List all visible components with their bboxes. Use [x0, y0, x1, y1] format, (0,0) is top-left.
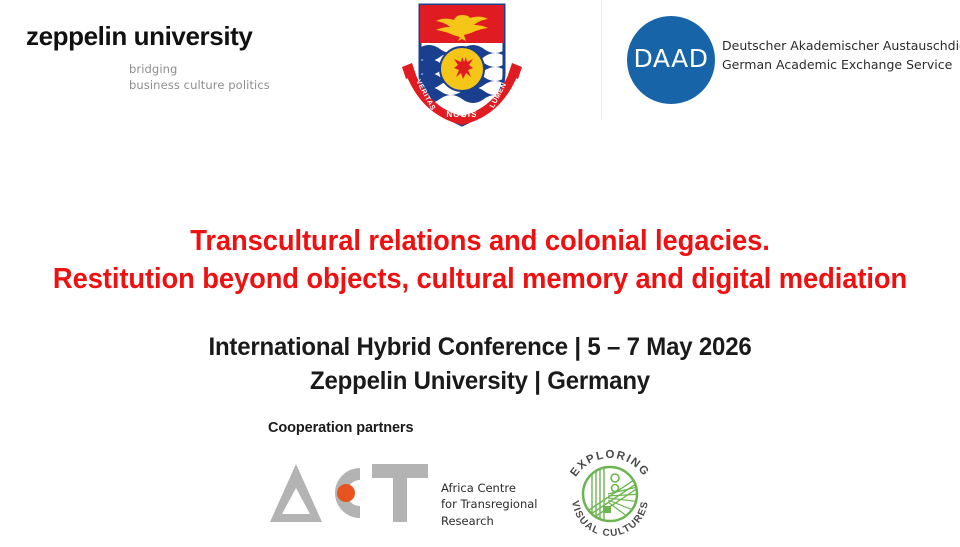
act-name-line-1: Africa Centre	[441, 480, 537, 496]
daad-name-english: German Academic Exchange Service	[722, 55, 960, 74]
zeppelin-university-logo: zeppelin university bridging business cu…	[26, 22, 326, 94]
crest-motto-center: NOBIS	[446, 110, 477, 119]
university-crest-logo: NOBIS VERITAS LUMEN	[398, 1, 526, 129]
crest-svg: NOBIS VERITAS LUMEN	[398, 1, 526, 129]
act-logo: Africa Centre for Transregional Research	[268, 454, 548, 534]
act-name-text: Africa Centre for Transregional Research	[441, 480, 537, 529]
zeppelin-university-tagline: bridging business culture politics	[129, 61, 326, 94]
daad-name-german: Deutscher Akademischer Austauschdienst	[722, 36, 960, 55]
cooperation-partners-label: Cooperation partners	[268, 420, 413, 436]
cooperation-partners-logos: Africa Centre for Transregional Research	[268, 452, 688, 540]
act-orange-dot-icon	[337, 484, 355, 502]
act-letter-t	[372, 464, 428, 522]
act-name-line-2: for Transregional	[441, 496, 537, 512]
conference-title-line-1: Transcultural relations and colonial leg…	[19, 222, 941, 260]
conference-details: International Hybrid Conference | 5 – 7 …	[0, 330, 960, 398]
daad-circle: DAAD	[627, 16, 715, 104]
conference-details-line-1: International Hybrid Conference | 5 – 7 …	[19, 330, 941, 364]
act-mark-icon	[268, 454, 438, 534]
act-name-line-3: Research	[441, 513, 537, 529]
tagline-line-2: business culture politics	[129, 77, 326, 94]
tagline-line-1: bridging	[129, 61, 326, 78]
daad-name-text: Deutscher Akademischer Austauschdienst G…	[722, 36, 960, 75]
zeppelin-university-wordmark: zeppelin university	[26, 22, 326, 51]
conference-title-line-2: Restitution beyond objects, cultural mem…	[19, 260, 941, 298]
logo-band: zeppelin university bridging business cu…	[0, 0, 960, 130]
exploring-visual-cultures-logo: EXPLORING VISUAL CULTURES	[558, 446, 662, 542]
daad-logo: DAAD Deutscher Akademischer Austauschdie…	[601, 0, 960, 120]
conference-details-line-2: Zeppelin University | Germany	[19, 364, 941, 398]
evc-svg: EXPLORING VISUAL CULTURES	[558, 446, 662, 542]
act-letter-a	[270, 464, 322, 522]
conference-title: Transcultural relations and colonial leg…	[0, 222, 960, 298]
daad-acronym: DAAD	[627, 46, 715, 71]
conference-announcement-slide: zeppelin university bridging business cu…	[0, 0, 960, 540]
